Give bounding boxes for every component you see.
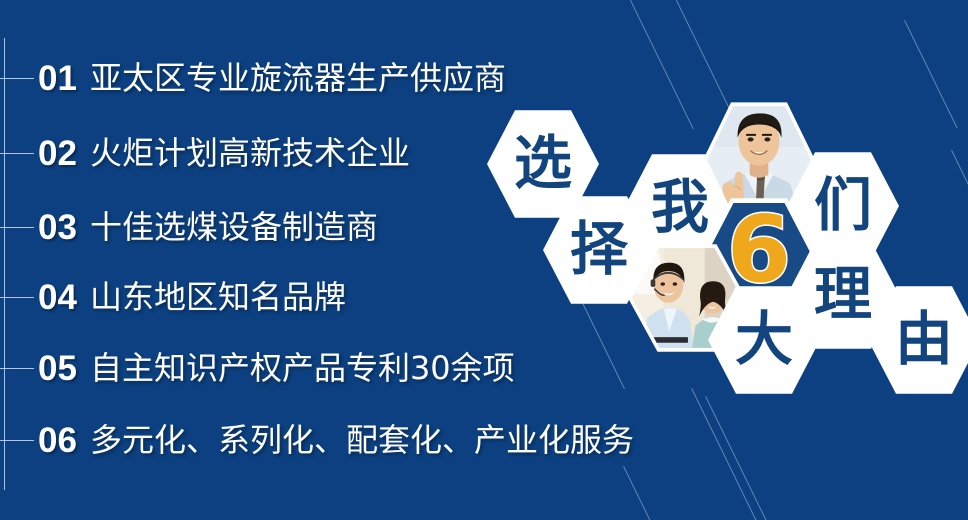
list-item-text: 多元化、系列化、配套化、产业化服务 bbox=[90, 424, 634, 456]
diagonal-line-6 bbox=[705, 396, 772, 520]
list-item-number: 06 bbox=[38, 423, 77, 458]
hex-glyph: 我 bbox=[651, 178, 709, 236]
list-item: 05 自主知识产权产品专利30余项 bbox=[0, 339, 515, 397]
tick-mark bbox=[0, 78, 34, 79]
tick-mark bbox=[0, 440, 34, 441]
hex-glyph: 选 bbox=[514, 134, 572, 192]
list-item: 02 火炬计划高新技术企业 bbox=[0, 124, 410, 182]
diagonal-line-4 bbox=[951, 150, 968, 276]
tick-mark bbox=[0, 368, 34, 369]
tick-mark bbox=[0, 153, 34, 154]
hex-glyph: 理 bbox=[814, 265, 872, 323]
tick-mark bbox=[0, 227, 34, 228]
list-item: 01 亚太区专业旋流器生产供应商 bbox=[0, 49, 506, 107]
hex-glyph: 择 bbox=[570, 220, 628, 278]
list-item: 03 十佳选煤设备制造商 bbox=[0, 198, 378, 256]
list-item-text: 亚太区专业旋流器生产供应商 bbox=[90, 62, 506, 94]
list-item-text: 火炬计划高新技术企业 bbox=[90, 137, 410, 169]
list-item: 04 山东地区知名品牌 bbox=[0, 268, 346, 326]
hex-glyph: 由 bbox=[895, 310, 953, 368]
diagonal-line-8 bbox=[623, 466, 659, 520]
list-item-text: 自主知识产权产品专利30余项 bbox=[90, 352, 515, 384]
tick-mark bbox=[0, 297, 34, 298]
list-item-text: 十佳选煤设备制造商 bbox=[90, 211, 378, 243]
list-item-number: 02 bbox=[38, 136, 77, 171]
list-item-text: 山东地区知名品牌 bbox=[90, 281, 346, 313]
list-item-number: 03 bbox=[38, 210, 77, 245]
list-item-number: 04 bbox=[38, 280, 77, 315]
list-item-number: 01 bbox=[38, 61, 77, 96]
list-item-number: 05 bbox=[38, 351, 77, 386]
list-item: 06 多元化、系列化、配套化、产业化服务 bbox=[0, 411, 634, 469]
diagonal-line-1 bbox=[627, 0, 694, 129]
promo-banner: 01 亚太区专业旋流器生产供应商 02 火炬计划高新技术企业 03 十佳选煤设备… bbox=[0, 0, 968, 520]
hex-glyph: 们 bbox=[814, 176, 872, 234]
diagonal-line-7 bbox=[691, 388, 762, 520]
diagonal-line-3 bbox=[904, 20, 958, 128]
hex-glyph: 大 bbox=[735, 310, 793, 368]
